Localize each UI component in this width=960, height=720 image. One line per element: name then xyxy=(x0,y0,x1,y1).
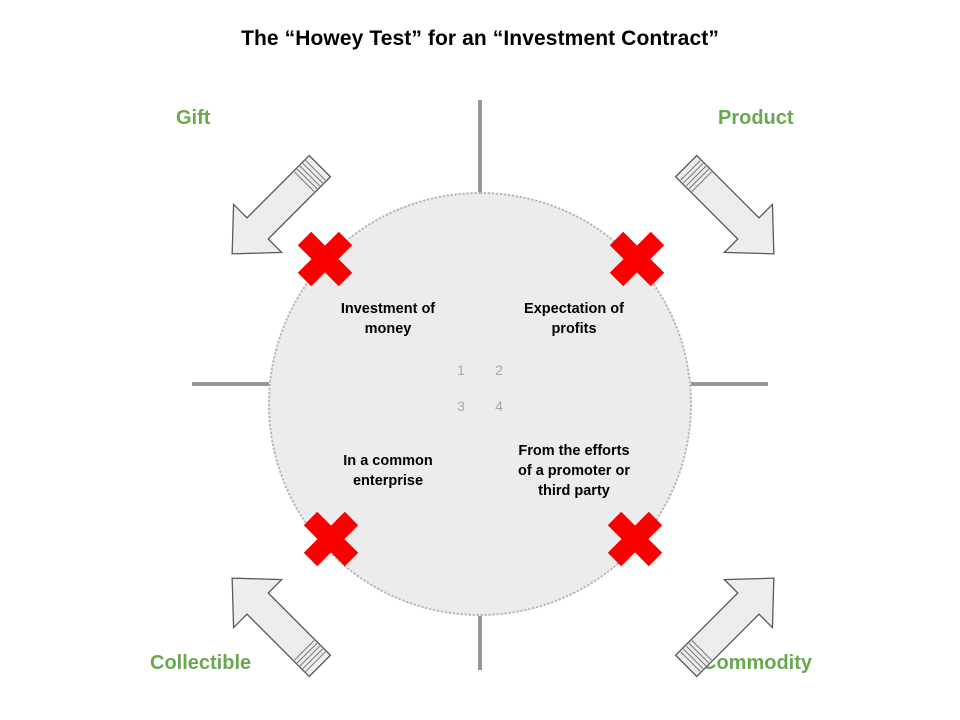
page-title: The “Howey Test” for an “Investment Cont… xyxy=(0,27,960,51)
arrow-down-left-icon xyxy=(206,552,346,692)
arrow-down-right-icon xyxy=(660,552,800,692)
red-x-cross-icon-commodity xyxy=(604,508,666,570)
quadrant-4-line-2: of a promoter or xyxy=(486,461,662,481)
quadrant-2-line-1: Expectation of xyxy=(486,299,662,319)
quadrant-3-line-1: In a common xyxy=(300,451,476,471)
quadrant-number-1: 1 xyxy=(450,362,472,378)
quadrant-1-line-1: Investment of xyxy=(300,299,476,319)
quadrant-number-4: 4 xyxy=(488,398,510,414)
quadrant-2-line-2: profits xyxy=(486,319,662,339)
quadrant-4-text: From the efforts of a promoter or third … xyxy=(486,441,662,501)
quadrant-4-line-3: third party xyxy=(486,481,662,501)
quadrant-4-line-1: From the efforts xyxy=(486,441,662,461)
red-x-cross-icon-product xyxy=(606,228,668,290)
corner-label-product: Product xyxy=(718,107,794,130)
corner-label-gift: Gift xyxy=(176,107,210,130)
diagram-canvas: The “Howey Test” for an “Investment Cont… xyxy=(0,0,960,720)
quadrant-1-text: Investment of money xyxy=(300,299,476,339)
red-x-cross-icon-collectible xyxy=(300,508,362,570)
arrow-up-right-icon xyxy=(660,140,800,280)
quadrant-3-line-2: enterprise xyxy=(300,471,476,491)
quadrant-number-2: 2 xyxy=(488,362,510,378)
red-x-cross-icon-gift xyxy=(294,228,356,290)
quadrant-2-text: Expectation of profits xyxy=(486,299,662,339)
quadrant-1-line-2: money xyxy=(300,319,476,339)
quadrant-number-3: 3 xyxy=(450,398,472,414)
quadrant-3-text: In a common enterprise xyxy=(300,451,476,491)
